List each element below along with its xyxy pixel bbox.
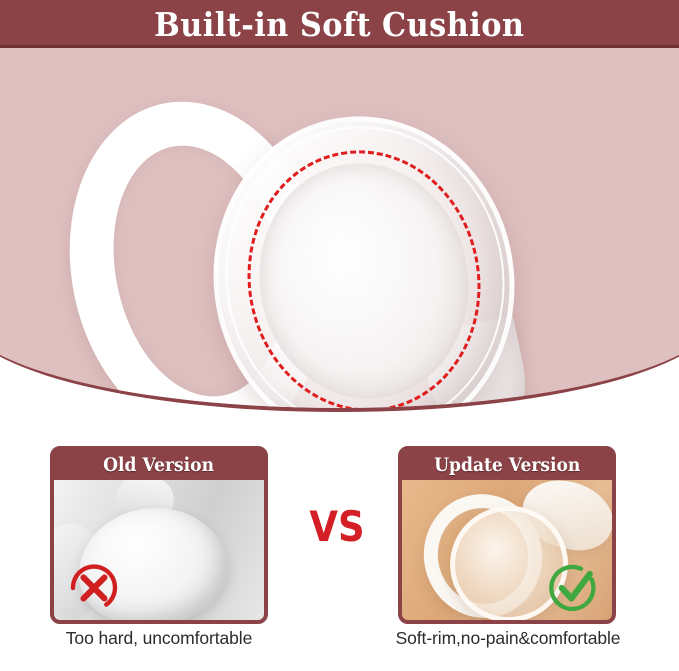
hero-panel	[0, 48, 679, 412]
update-version-caption: Soft-rim,no-pain&comfortable	[348, 628, 668, 649]
old-version-header-label: Old Version	[104, 454, 215, 476]
cushion-highlight-dashed-ellipse	[227, 132, 501, 412]
green-check-icon	[546, 560, 602, 616]
update-version-card: Update Version	[398, 446, 616, 624]
vs-label: VS	[293, 506, 381, 548]
header-banner: Built-in Soft Cushion	[0, 0, 679, 48]
hero-product-image	[0, 48, 679, 408]
product-infographic: Built-in Soft Cushion Old Version	[0, 0, 679, 671]
update-version-photo	[402, 480, 612, 620]
old-version-card-header: Old Version	[54, 450, 264, 480]
update-version-header-label: Update Version	[434, 454, 580, 476]
update-version-card-header: Update Version	[402, 450, 612, 480]
old-version-card: Old Version	[50, 446, 268, 624]
old-version-caption: Too hard, uncomfortable	[0, 628, 319, 649]
page-title: Built-in Soft Cushion	[154, 8, 524, 41]
comparison-section: Old Version Too hard, uncomfortable VS	[0, 446, 679, 671]
red-x-icon	[66, 560, 122, 616]
old-version-photo	[54, 480, 264, 620]
